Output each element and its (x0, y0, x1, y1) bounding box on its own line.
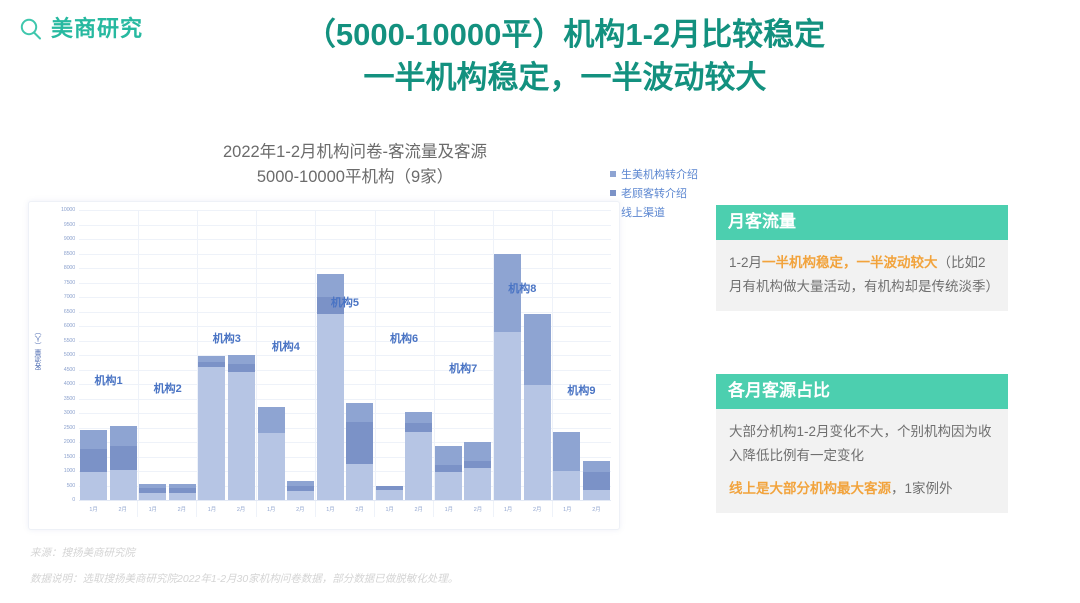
bar-segment (524, 314, 551, 385)
bar-segment (376, 490, 403, 500)
bar-segment (405, 412, 432, 424)
x-axis-group: 1月2月 (375, 501, 434, 517)
bar-segment (198, 367, 225, 500)
x-tick-label: 1月 (80, 505, 107, 513)
callout-traffic: 月客流量 1-2月一半机构稳定，一半波动较大（比如2月有机构做大量活动，有机构却… (716, 205, 1008, 311)
group-separator (138, 210, 139, 500)
bar-segment (583, 472, 610, 489)
bar-group-label: 机构1 (79, 372, 138, 388)
bar-segment (258, 433, 285, 500)
bars-container: 机构1机构2机构3机构4机构5机构6机构7机构8机构9 (79, 210, 611, 500)
bar-group-label: 机构5 (315, 294, 374, 310)
search-icon (18, 16, 44, 42)
callout-text: 大部分机构1-2月变化不大，个别机构因为收入降低比例有一定变化 (729, 424, 992, 462)
y-tick-label: 8000 (64, 265, 75, 271)
bar-segment (317, 314, 344, 500)
bar-group-label: 机构8 (493, 280, 552, 296)
bar-segment (169, 493, 196, 500)
bar-groups: 机构1机构2机构3机构4机构5机构6机构7机构8机构9 (79, 210, 611, 500)
x-tick-label: 2月 (583, 505, 610, 513)
x-axis-group: 1月2月 (79, 501, 138, 517)
callout-traffic-title: 月客流量 (716, 205, 1008, 240)
x-tick-label: 1月 (139, 505, 166, 513)
legend-label: 线上渠道 (621, 204, 665, 220)
x-tick-label: 1月 (376, 505, 403, 513)
legend-label: 老顾客转介绍 (621, 185, 687, 201)
group-separator (434, 210, 435, 500)
callout-source-share-title: 各月客源占比 (716, 374, 1008, 409)
y-tick-label: 1500 (64, 454, 75, 460)
legend-item[interactable]: 线上渠道 (610, 204, 698, 220)
callout-source-share: 各月客源占比 大部分机构1-2月变化不大，个别机构因为收入降低比例有一定变化线上… (716, 374, 1008, 513)
y-tick-label: 10000 (61, 207, 75, 213)
bar-group: 机构3 (197, 210, 256, 500)
group-separator (256, 210, 257, 500)
x-tick-label: 1月 (317, 505, 344, 513)
stacked-bar[interactable] (198, 356, 225, 500)
bar-group: 机构1 (79, 210, 138, 500)
legend-label: 生美机构转介绍 (621, 166, 698, 182)
legend-swatch-icon (610, 171, 616, 177)
chart-title-line-2: 5000-10000平机构（9家） (150, 165, 560, 190)
callout-source-share-body: 大部分机构1-2月变化不大，个别机构因为收入降低比例有一定变化线上是大部分机构最… (716, 409, 1008, 513)
bar-segment (346, 422, 373, 464)
x-tick-label: 2月 (287, 505, 314, 513)
stacked-bar[interactable] (110, 426, 137, 500)
callout-text: ，1家例外 (891, 481, 953, 496)
x-axis-group: 1月2月 (138, 501, 197, 517)
y-tick-label: 2500 (64, 425, 75, 431)
group-separator (493, 210, 494, 500)
bar-segment (583, 461, 610, 473)
brand-logo: 美商研究 (18, 16, 143, 42)
bar-group: 机构6 (375, 210, 434, 500)
footer-note: 数据说明：选取搜扬美商研究院2022年1-2月30家机构问卷数据，部分数据已做脱… (30, 571, 458, 586)
x-tick-label: 1月 (495, 505, 522, 513)
legend-swatch-icon (610, 190, 616, 196)
page-title: （5000-10000平）机构1-2月比较稳定 一半机构稳定，一半波动较大 (170, 14, 960, 100)
bar-group-label: 机构9 (552, 382, 611, 398)
stacked-bar[interactable] (169, 484, 196, 500)
callout-highlight-text: 一半机构稳定，一半波动较大 (762, 255, 938, 270)
group-separator (552, 210, 553, 500)
callout-paragraph: 1-2月一半机构稳定，一半波动较大（比如2月有机构做大量活动，有机构却是传统淡季… (729, 251, 995, 297)
bar-segment (346, 403, 373, 422)
x-axis-group: 1月2月 (553, 501, 611, 517)
x-tick-label: 1月 (554, 505, 581, 513)
bar-segment (110, 426, 137, 446)
y-tick-label: 5000 (64, 352, 75, 358)
x-tick-label: 1月 (435, 505, 462, 513)
bar-group: 机构9 (552, 210, 611, 500)
x-axis-group: 1月2月 (257, 501, 316, 517)
group-separator (315, 210, 316, 500)
x-axis-tick-labels: 1月2月1月2月1月2月1月2月1月2月1月2月1月2月1月2月1月2月 (79, 500, 611, 517)
brand-name: 美商研究 (51, 18, 143, 40)
bar-segment (405, 432, 432, 500)
x-tick-label: 1月 (198, 505, 225, 513)
bar-segment (405, 423, 432, 432)
bar-segment (553, 471, 580, 500)
callout-text: 1-2月 (729, 255, 762, 270)
y-tick-label: 5500 (64, 338, 75, 344)
x-tick-label: 2月 (228, 505, 255, 513)
x-axis-group: 1月2月 (197, 501, 256, 517)
stacked-bar[interactable] (553, 432, 580, 500)
y-tick-label: 9500 (64, 222, 75, 228)
bar-segment (80, 472, 107, 500)
footer-source: 来源：搜扬美商研究院 (30, 545, 135, 560)
callout-paragraph: 大部分机构1-2月变化不大，个别机构因为收入降低比例有一定变化 (729, 420, 995, 466)
stacked-bar[interactable] (80, 430, 107, 500)
x-tick-label: 1月 (258, 505, 285, 513)
headline-line-1: （5000-10000平）机构1-2月比较稳定 (170, 14, 960, 57)
stacked-bar[interactable] (139, 484, 166, 500)
x-tick-label: 2月 (464, 505, 491, 513)
stacked-bar[interactable] (376, 486, 403, 500)
x-tick-label: 2月 (524, 505, 551, 513)
bar-segment (464, 461, 491, 468)
bar-segment (287, 491, 314, 500)
x-tick-label: 2月 (109, 505, 136, 513)
y-tick-label: 1000 (64, 468, 75, 474)
bar-segment (435, 465, 462, 472)
bar-group: 机构8 (493, 210, 552, 500)
bar-segment (110, 470, 137, 500)
chart-title: 2022年1-2月机构问卷-客流量及客源 5000-10000平机构（9家） (150, 140, 560, 190)
bar-group: 机构5 (315, 210, 374, 500)
chart-plot-area: 客流量（人） 050010001500200025003000350040004… (29, 202, 619, 529)
bar-segment (139, 493, 166, 500)
bar-group-label: 机构3 (197, 330, 256, 346)
headline-line-2: 一半机构稳定，一半波动较大 (170, 57, 960, 100)
bar-segment (228, 372, 255, 500)
y-tick-label: 3500 (64, 396, 75, 402)
bar-segment (553, 432, 580, 471)
x-tick-label: 2月 (405, 505, 432, 513)
x-tick-label: 2月 (168, 505, 195, 513)
y-tick-label: 6500 (64, 309, 75, 315)
stacked-bar[interactable] (583, 461, 610, 500)
group-separator (197, 210, 198, 500)
bar-segment (464, 442, 491, 461)
x-tick-label: 2月 (346, 505, 373, 513)
callout-highlight-text: 线上是大部分机构最大客源 (729, 481, 891, 496)
bar-segment (80, 430, 107, 449)
x-axis-group: 1月2月 (434, 501, 493, 517)
bar-group: 机构4 (256, 210, 315, 500)
bar-segment (80, 449, 107, 472)
stacked-bar[interactable] (228, 355, 255, 500)
y-tick-label: 7000 (64, 294, 75, 300)
bar-group-label: 机构6 (375, 330, 434, 346)
legend-item[interactable]: 老顾客转介绍 (610, 185, 698, 201)
y-tick-label: 6000 (64, 323, 75, 329)
y-tick-label: 4500 (64, 367, 75, 373)
chart-title-line-1: 2022年1-2月机构问卷-客流量及客源 (150, 140, 560, 165)
bar-segment (524, 385, 551, 500)
bar-segment (228, 364, 255, 373)
bar-group-label: 机构7 (434, 360, 493, 376)
x-axis-group: 1月2月 (316, 501, 375, 517)
y-tick-label: 8500 (64, 251, 75, 257)
y-tick-label: 7500 (64, 280, 75, 286)
bar-segment (494, 332, 521, 500)
bar-segment (435, 446, 462, 465)
bar-segment (464, 468, 491, 500)
bar-segment (346, 464, 373, 500)
bar-group-label: 机构2 (138, 380, 197, 396)
y-tick-label: 4000 (64, 381, 75, 387)
stacked-bar[interactable] (258, 407, 285, 500)
bar-segment (583, 490, 610, 500)
y-tick-label: 500 (67, 483, 75, 489)
chart-legend: 生美机构转介绍老顾客转介绍线上渠道 (610, 166, 698, 223)
stacked-bar[interactable] (346, 403, 373, 500)
callout-paragraph: 线上是大部分机构最大客源，1家例外 (729, 477, 995, 500)
y-tick-label: 2000 (64, 439, 75, 445)
bar-group: 机构2 (138, 210, 197, 500)
stacked-bar[interactable] (287, 481, 314, 500)
callout-traffic-body: 1-2月一半机构稳定，一半波动较大（比如2月有机构做大量活动，有机构却是传统淡季… (716, 240, 1008, 310)
stacked-bar[interactable] (435, 446, 462, 500)
group-separator (375, 210, 376, 500)
bar-segment (258, 407, 285, 433)
y-tick-label: 3000 (64, 410, 75, 416)
y-tick-label: 9000 (64, 236, 75, 242)
x-axis-group: 1月2月 (494, 501, 553, 517)
chart-card: 客流量（人） 050010001500200025003000350040004… (28, 201, 620, 530)
stacked-bar[interactable] (524, 314, 551, 500)
legend-item[interactable]: 生美机构转介绍 (610, 166, 698, 182)
y-axis-tick-labels: 0500100015002000250030003500400045005000… (43, 210, 77, 500)
stacked-bar[interactable] (464, 442, 491, 500)
bar-segment (110, 446, 137, 469)
bar-segment (228, 355, 255, 364)
y-tick-label: 0 (72, 497, 75, 503)
bar-group: 机构7 (434, 210, 493, 500)
bar-group-label: 机构4 (256, 338, 315, 354)
bar-segment (435, 472, 462, 500)
stacked-bar[interactable] (405, 412, 432, 500)
